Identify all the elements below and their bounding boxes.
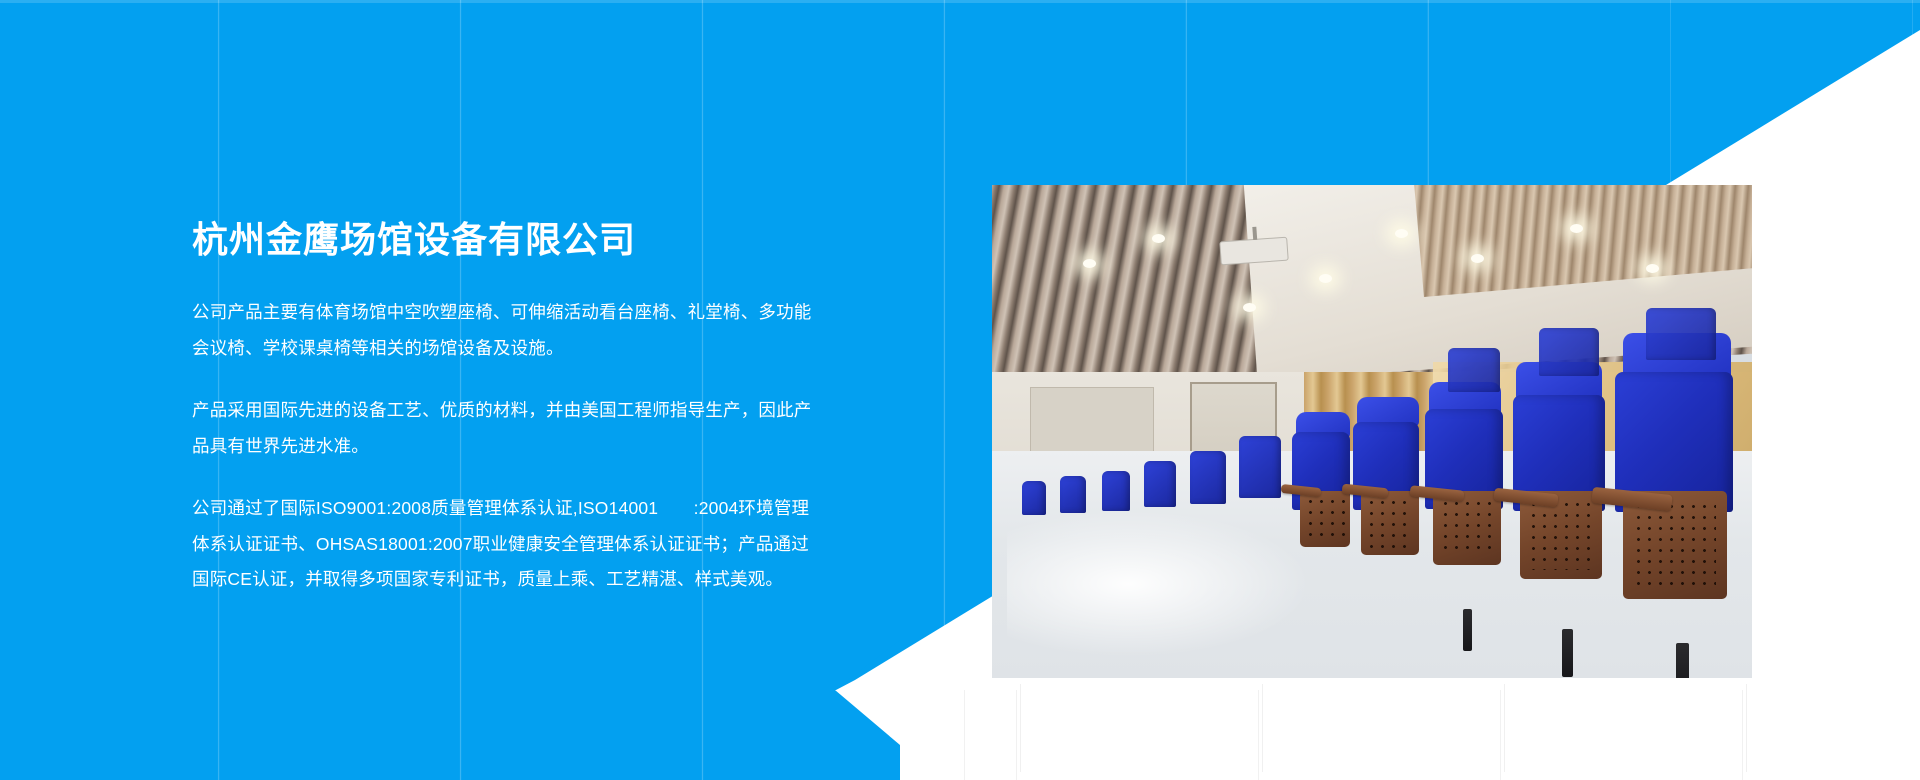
top-hairline bbox=[0, 0, 1920, 3]
hero-paragraph-3: 公司通过了国际ISO9001:2008质量管理体系认证,ISO14001 :20… bbox=[192, 491, 812, 599]
hero-copy: 杭州金鹰场馆设备有限公司 公司产品主要有体育场馆中空吹塑座椅、可伸缩活动看台座椅… bbox=[192, 218, 812, 598]
seat-wood-panel bbox=[1361, 491, 1419, 555]
hero-banner: 杭州金鹰场馆设备有限公司 公司产品主要有体育场馆中空吹塑座椅、可伸缩活动看台座椅… bbox=[0, 0, 1920, 780]
seat-distant bbox=[1060, 476, 1086, 513]
seat-leg bbox=[1676, 643, 1689, 678]
seat-leg bbox=[1562, 629, 1573, 677]
hero-paragraph-2: 产品采用国际先进的设备工艺、优质的材料，并由美国工程师指导生产，因此产品具有世界… bbox=[192, 393, 812, 465]
seat-distant bbox=[1539, 328, 1599, 376]
seat-distant bbox=[1144, 461, 1176, 507]
seat-distant bbox=[1239, 436, 1281, 498]
hero-paragraph-1: 公司产品主要有体育场馆中空吹塑座椅、可伸缩活动看台座椅、礼堂椅、多功能会议椅、学… bbox=[192, 295, 812, 367]
seat-distant bbox=[1646, 308, 1716, 360]
seat-distant bbox=[1022, 481, 1046, 515]
seat-distant bbox=[1102, 471, 1130, 511]
page-title: 杭州金鹰场馆设备有限公司 bbox=[192, 218, 812, 261]
photo-content bbox=[992, 185, 1752, 678]
seat-leg bbox=[1463, 609, 1472, 651]
seat-rows bbox=[992, 185, 1752, 678]
seat-wood-panel bbox=[1433, 491, 1501, 565]
seat-distant bbox=[1448, 348, 1500, 392]
seat-distant bbox=[1190, 451, 1226, 504]
seat-wood-panel bbox=[1300, 491, 1350, 547]
auditorium-seating-photo bbox=[992, 185, 1752, 678]
